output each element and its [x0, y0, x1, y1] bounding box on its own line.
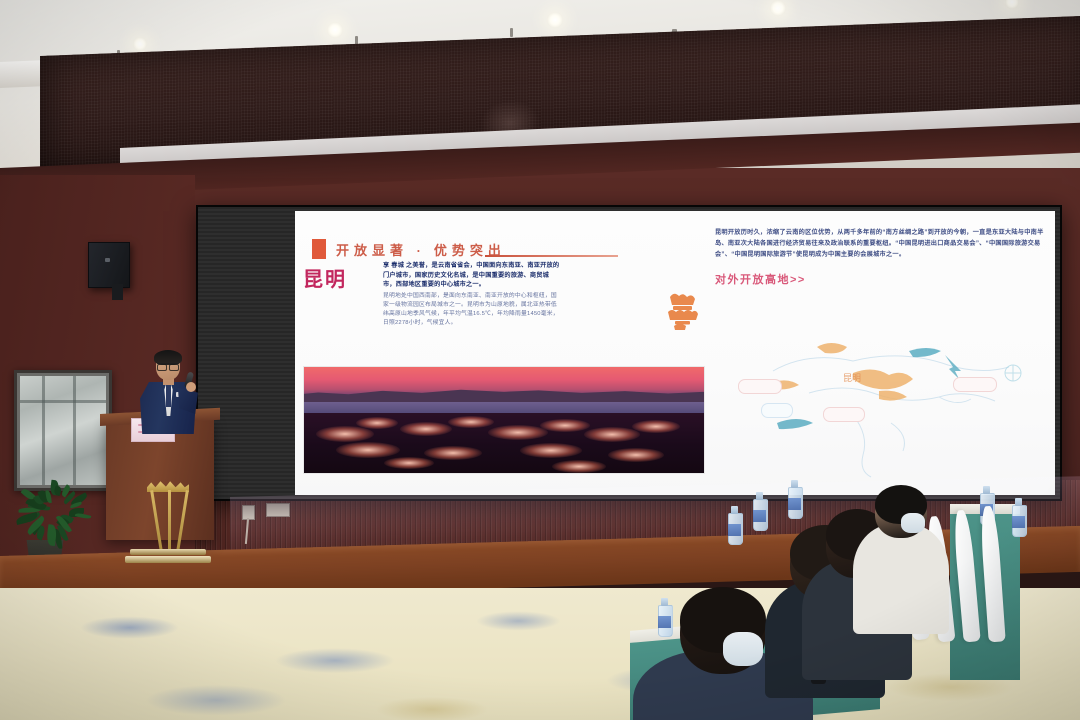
conference-hall-scene: 开放显著 · 优势突出 昆明 享 春城 之美誉，是云南省省会，中国面向东南亚、南… [0, 0, 1080, 720]
slide-open-highland-link[interactable]: 对外开放高地>> [715, 271, 1045, 287]
face-mask [901, 513, 925, 533]
seated-audience [620, 470, 1080, 720]
gold-stand-tier [130, 549, 206, 555]
bottle-label [728, 524, 741, 536]
led-video-wall[interactable]: 开放显著 · 优势突出 昆明 享 春城 之美誉，是云南省省会，中国面向东南亚、南… [196, 205, 1062, 501]
map-pill-3 [953, 377, 997, 392]
presenter-in-navy-suit [138, 352, 200, 432]
slide-body-thin: 昆明地处中国西南部，是面向东南亚、南亚开放的中心和枢纽，国家一级物流园区布局城市… [383, 292, 561, 329]
photo-sky [304, 367, 704, 395]
bottle-label [658, 616, 671, 628]
kunming-night-photo [303, 366, 705, 474]
slide-title: 开放显著 · 优势突出 [336, 240, 506, 259]
slide-body-strong: 享 春城 之美誉，是云南省省会，中国面向东南亚、南亚开放的门户城市，国家历史文化… [383, 261, 561, 290]
bottle-cap [731, 506, 738, 514]
map-pill-1 [738, 379, 782, 394]
bottle-label [753, 510, 766, 522]
bottle-label [1012, 516, 1025, 528]
map-pill-4 [761, 403, 793, 418]
slide-heading-kunming: 昆明 [303, 263, 347, 292]
title-square-marker [312, 239, 326, 259]
photo-city-lights [304, 413, 704, 473]
ceiling-fitting-3 [510, 28, 513, 37]
bottle-cap [661, 598, 668, 606]
svg-text:昆明: 昆明 [843, 373, 861, 383]
title-underline [485, 255, 618, 257]
slide-title-row: 开放显著 · 优势突出 [312, 239, 506, 259]
ceiling-speaker-icon [88, 242, 130, 288]
bottle-label [788, 498, 801, 510]
presenter-hand [186, 382, 196, 392]
downlight-1 [133, 37, 147, 51]
speaker-bracket [112, 284, 123, 300]
slide-right-text: 昆明开放历时久，浓缩了云南的区位优势，从两千多年前的“南方丝绸之路”到开放的今朝… [715, 227, 1045, 260]
picture-inner [20, 376, 106, 485]
downlight-3 [547, 12, 563, 28]
presentation-slide: 开放显著 · 优势突出 昆明 享 春城 之美誉，是云南省省会，中国面向东南亚、南… [295, 211, 1055, 495]
person-torso [853, 524, 949, 634]
gold-stand-base [125, 556, 211, 563]
orange-ornament-icon [660, 291, 706, 331]
bottle-cap [1015, 498, 1022, 506]
framed-window-picture [14, 370, 112, 491]
gold-floral-stand [125, 480, 211, 568]
downlight-2 [327, 22, 343, 38]
face-mask [723, 632, 763, 666]
bottle-cap [791, 480, 798, 488]
slide-body-block: 享 春城 之美誉，是云南省省会，中国面向东南亚、南亚开放的门户城市，国家历史文化… [383, 261, 561, 329]
map-pill-2 [823, 407, 865, 422]
downlight-4 [770, 0, 786, 16]
slide-right-column: 昆明开放历时久，浓缩了云南的区位优势，从两千多年前的“南方丝绸之路”到开放的今朝… [715, 227, 1045, 287]
bottle-cap [983, 486, 990, 494]
presenter-tie [166, 385, 171, 407]
bottle-cap [756, 492, 763, 500]
eyeglasses-icon [157, 363, 179, 369]
